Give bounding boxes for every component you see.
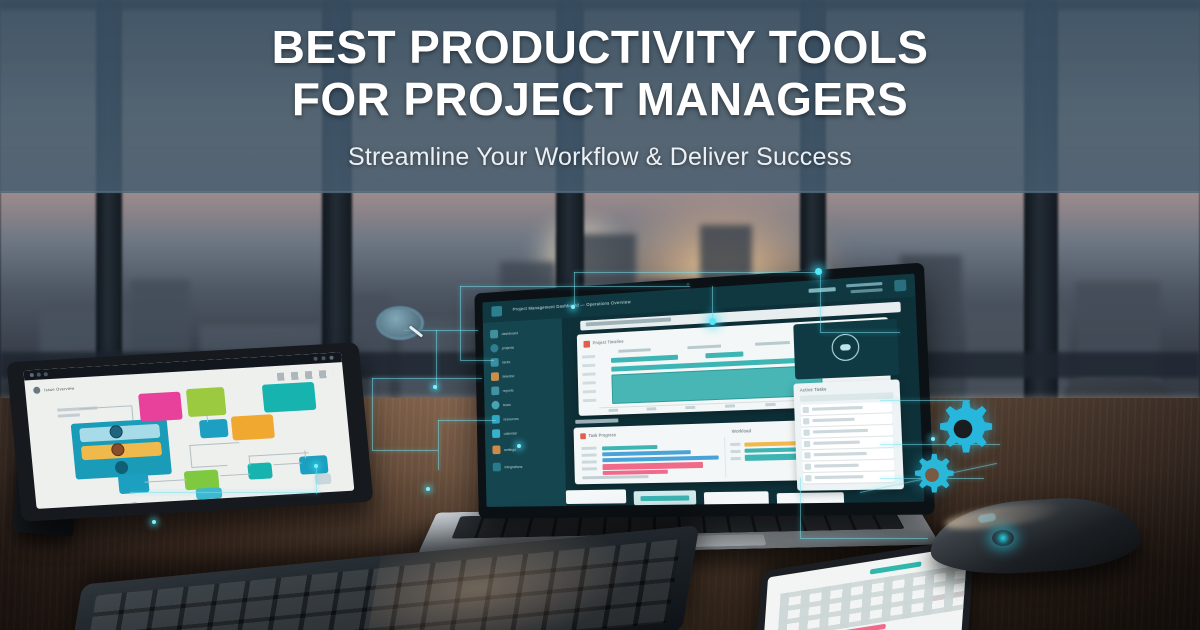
task-icon [803,429,809,435]
sidebar-item-label: timeline [502,373,514,378]
user-avatar[interactable] [894,279,906,291]
main-chart-title: Project Timeline [593,339,624,346]
y-axis-tick [583,399,596,402]
magnifier-icon[interactable] [376,306,424,340]
reports-icon [491,386,499,395]
sidebar-item-integrations[interactable]: integrations [493,461,562,473]
sidebar-item-projects[interactable]: projects [490,340,558,354]
task-list-title: Active Tasks [800,386,827,392]
sub-chart-title: Task Progress [589,432,617,438]
task-list-header [800,392,894,402]
timeline-button[interactable] [634,490,697,505]
dashboard-view-button[interactable] [566,489,626,504]
hbar[interactable] [602,445,657,450]
page-title: BEST PRODUCTIVITY TOOLS FOR PROJECT MANA… [272,22,929,125]
hbar[interactable] [603,470,668,475]
tablet-card[interactable] [118,473,150,494]
x-axis-tick [765,403,775,406]
panel-icon [580,433,586,439]
tablet-card[interactable] [247,462,273,479]
projects-icon [490,344,498,353]
sub-chart-divider [724,437,726,478]
hbar[interactable] [602,450,691,456]
gantt-bar[interactable] [705,351,743,358]
sidebar-item-label: settings [504,446,516,451]
app-logo-icon [491,306,502,317]
sidebar-item-reports[interactable]: reports [491,384,560,397]
banner-bottom-edge [0,191,1200,194]
footnote [582,475,648,479]
chart-col-label [687,345,721,349]
tablet-device[interactable]: Issue Overview [6,342,373,522]
laptop-device[interactable]: dashboard projects tasks timeline [430,278,930,568]
task-label [812,406,863,411]
x-axis-tick [725,404,735,407]
laptop-screen[interactable]: dashboard projects tasks timeline [482,274,924,507]
tablet-app-icon [33,387,41,394]
reports-button[interactable] [704,491,769,506]
tablet-card[interactable] [186,387,227,417]
headline-line-1: BEST PRODUCTIVITY TOOLS [272,21,929,73]
calendar-icon [492,429,500,438]
task-label [814,464,859,468]
task-row[interactable] [802,448,894,461]
timeline-button-fill [640,495,689,501]
wireless-mouse[interactable] [930,500,1140,572]
topbar-action[interactable] [846,282,882,287]
y-axis-tick [731,457,741,460]
team-board-button[interactable] [777,492,845,507]
tablet-body: Issue Overview [6,342,373,522]
sidebar-item-resources[interactable]: resources [492,413,561,426]
y-axis-tick [582,372,595,376]
y-axis-tick [581,447,596,450]
page-subtitle: Streamline Your Workflow & Deliver Succe… [348,143,852,172]
task-label [813,441,860,445]
task-list-panel[interactable]: Active Tasks [793,379,904,490]
chart-col-label [618,348,650,352]
poster-canvas: Issue Overview [0,0,1200,630]
integrations-icon [493,463,501,472]
sidebar-item-label: projects [502,344,514,349]
hbar[interactable] [602,462,703,470]
y-axis-tick [582,467,597,470]
sidebar-item-label: resources [503,416,518,421]
task-row[interactable] [803,471,895,483]
gear-icon[interactable] [930,398,996,460]
dashboard-sidebar[interactable]: dashboard projects tasks timeline [482,297,566,507]
tablet-note [58,413,80,417]
tablet-screen[interactable]: Issue Overview [23,352,354,509]
topbar-action[interactable] [809,287,836,293]
x-axis-tick [609,409,619,412]
sidebar-item-label: tasks [502,359,510,364]
play-circle-inner-icon [840,344,851,351]
sidebar-item-label: team [503,402,511,407]
tablet-app-title: Issue Overview [44,386,75,393]
y-axis-tick [730,443,740,446]
tasks-icon [491,358,499,367]
sub-chart-right-title: Workload [732,428,752,434]
sidebar-item-label: reports [503,387,514,392]
sidebar-item-label: dashboard [502,330,518,336]
webcam-icon [686,283,689,286]
task-icon [803,407,809,413]
x-axis-tick [647,407,657,410]
resources-icon [492,415,500,424]
sidebar-item-tasks[interactable]: tasks [491,355,560,369]
sidebar-item-calendar[interactable]: calendar [492,427,561,440]
y-axis-tick [730,450,740,453]
y-axis-tick [582,453,597,456]
y-axis-tick [583,381,596,384]
task-icon [804,452,810,458]
title-banner: BEST PRODUCTIVITY TOOLS FOR PROJECT MANA… [0,0,1200,193]
gear-icon [492,445,500,454]
task-label [813,429,868,434]
dashboard-icon [490,330,498,339]
sidebar-item-label: integrations [504,464,522,469]
tablet-card[interactable] [262,382,317,413]
task-icon [804,441,810,447]
task-label [812,418,854,422]
tablet-toolbar-icons[interactable] [277,370,334,381]
panel-icon [583,341,590,348]
tablet-card[interactable] [315,473,332,485]
gantt-bar[interactable] [611,355,678,363]
x-axis-tick [685,406,695,409]
dashboard-title: Project Management Dashboard — Operation… [513,299,631,311]
sidebar-item-team[interactable]: team [491,398,560,411]
task-icon [803,418,809,424]
topbar-action[interactable] [851,288,883,293]
task-row[interactable] [802,460,894,472]
mouse-led-indicator [992,530,1014,546]
tablet-card[interactable] [299,455,329,475]
task-icon [805,464,811,470]
magnifier-lens [376,306,424,340]
tablet-card[interactable] [199,419,229,439]
headline-line-2: FOR PROJECT MANAGERS [272,74,929,126]
gear-icon[interactable] [908,452,956,498]
sidebar-item-dashboard[interactable]: dashboard [490,326,558,340]
chart-col-label [755,341,790,345]
sidebar-item-timeline[interactable]: timeline [491,369,560,383]
laptop-lid: dashboard projects tasks timeline [474,263,935,519]
tablet-card-highlight[interactable] [195,487,222,499]
team-icon [491,401,499,410]
task-icon [805,475,812,481]
y-axis-tick [582,355,595,359]
tablet-card[interactable] [231,414,275,440]
y-axis-tick [583,390,596,393]
y-axis-tick [582,364,595,368]
y-axis-tick [582,460,597,463]
timeline-icon [491,372,499,381]
hbar[interactable] [602,455,718,461]
sidebar-item-settings[interactable]: settings [492,444,561,456]
task-label [814,452,867,456]
task-label [815,475,864,479]
chart-area-fill [611,365,823,404]
section-label [575,418,618,423]
task-row[interactable] [802,436,894,449]
sidebar-item-label: calendar [504,430,517,435]
tablet-card[interactable] [138,392,183,422]
